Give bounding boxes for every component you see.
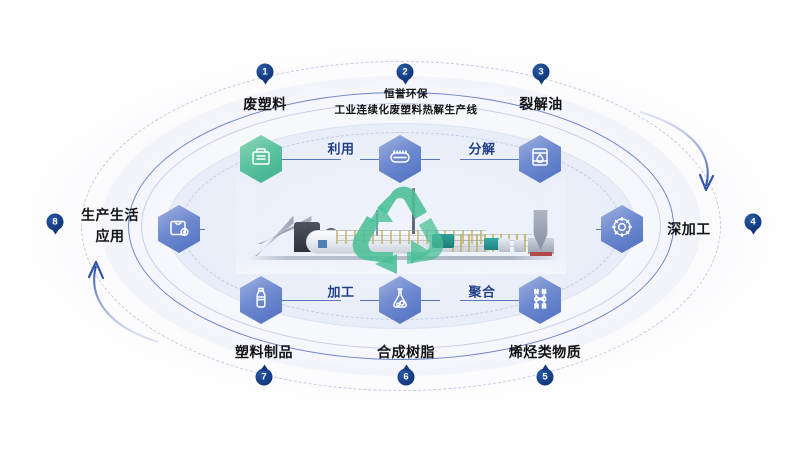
pin-4[interactable]: 4 — [745, 214, 762, 231]
outer-label-1-text: 废塑料 — [243, 94, 287, 114]
right-down-arc — [640, 112, 708, 186]
pin-3[interactable]: 3 — [533, 64, 550, 81]
recycling-flow-diagram: HHCCHH 利用 分解 加工 聚合 1 2 3 4 5 — [0, 0, 801, 451]
pin-6-tail — [402, 365, 410, 371]
outer-label-7-text: 塑料制品 — [235, 342, 293, 362]
ethylene-molecule-icon: HHCCHH — [528, 286, 552, 315]
outer-label-1: 废塑料 — [243, 94, 287, 114]
pin-5[interactable]: 5 — [537, 369, 554, 386]
pin-3-tail — [537, 79, 545, 85]
plant-red-unit — [530, 252, 552, 256]
outer-label-4-text: 深加工 — [667, 219, 711, 239]
oil-barrel-icon — [528, 145, 552, 174]
stage-label-bottom-left: 加工 — [327, 282, 354, 301]
bottle-icon — [249, 286, 273, 315]
hex-ethylene[interactable]: HHCCHH — [519, 276, 561, 324]
left-up-arrowhead — [89, 262, 103, 278]
pin-2[interactable]: 2 — [397, 64, 414, 81]
recycle-icon — [345, 178, 457, 274]
outer-label-8-line1: 生产生活 — [81, 206, 139, 225]
outer-label-2: 恒誉环保 工业连续化废塑料热解生产线 — [335, 87, 478, 117]
outer-label-8-line2: 应用 — [81, 227, 139, 246]
hex-gear[interactable] — [601, 205, 643, 253]
left-up-arc — [94, 266, 158, 342]
pin-8-tail — [51, 229, 59, 235]
outer-label-6-text: 合成树脂 — [377, 342, 435, 362]
outer-label-2-sub: 工业连续化废塑料热解生产线 — [335, 103, 478, 117]
svg-text:H: H — [542, 304, 546, 310]
outer-label-3-text: 裂解油 — [519, 94, 563, 114]
outer-label-5-text: 烯烃类物质 — [509, 342, 582, 362]
pin-7[interactable]: 7 — [256, 369, 273, 386]
hex-flask[interactable] — [379, 276, 421, 324]
pin-5-number: 5 — [537, 369, 554, 386]
pin-1[interactable]: 1 — [257, 64, 274, 81]
outer-label-8: 生产生活 应用 — [81, 206, 139, 246]
pin-6[interactable]: 6 — [398, 369, 415, 386]
reactor-icon — [388, 145, 412, 174]
production-line-photo — [236, 178, 566, 274]
pin-1-tail — [261, 79, 269, 85]
hex-bottle[interactable] — [240, 276, 282, 324]
hex-oil-barrel[interactable] — [519, 135, 561, 183]
outer-label-5: 烯烃类物质 — [509, 342, 582, 362]
outer-label-7: 塑料制品 — [235, 342, 293, 362]
pin-5-tail — [541, 365, 549, 371]
pin-2-tail — [401, 79, 409, 85]
stage-label-bottom-right: 聚合 — [468, 282, 495, 301]
pin-6-number: 6 — [398, 369, 415, 386]
pin-8[interactable]: 8 — [47, 214, 64, 231]
svg-text:H: H — [535, 304, 539, 310]
waste-bin-icon — [249, 145, 273, 174]
outer-label-3: 裂解油 — [519, 94, 563, 114]
outer-label-2-brand: 恒誉环保 — [335, 87, 478, 101]
stage-label-top-left: 利用 — [327, 139, 354, 158]
plant-conveyor — [242, 212, 294, 256]
outer-label-6: 合成树脂 — [377, 342, 435, 362]
gear-icon — [610, 215, 634, 244]
pin-4-tail — [749, 229, 757, 235]
pin-7-number: 7 — [256, 369, 273, 386]
outer-label-4: 深加工 — [667, 219, 711, 239]
hex-shopping-bag[interactable] — [158, 205, 200, 253]
hex-waste-bin[interactable] — [240, 135, 282, 183]
plant-tank — [498, 238, 510, 252]
pin-7-tail — [260, 365, 268, 371]
stage-label-top-right: 分解 — [468, 139, 495, 158]
hex-reactor[interactable] — [379, 135, 421, 183]
right-down-arrowhead — [700, 175, 713, 190]
shopping-bag-icon — [167, 215, 191, 244]
plant-tank-2 — [514, 240, 524, 252]
flask-icon — [388, 286, 412, 315]
